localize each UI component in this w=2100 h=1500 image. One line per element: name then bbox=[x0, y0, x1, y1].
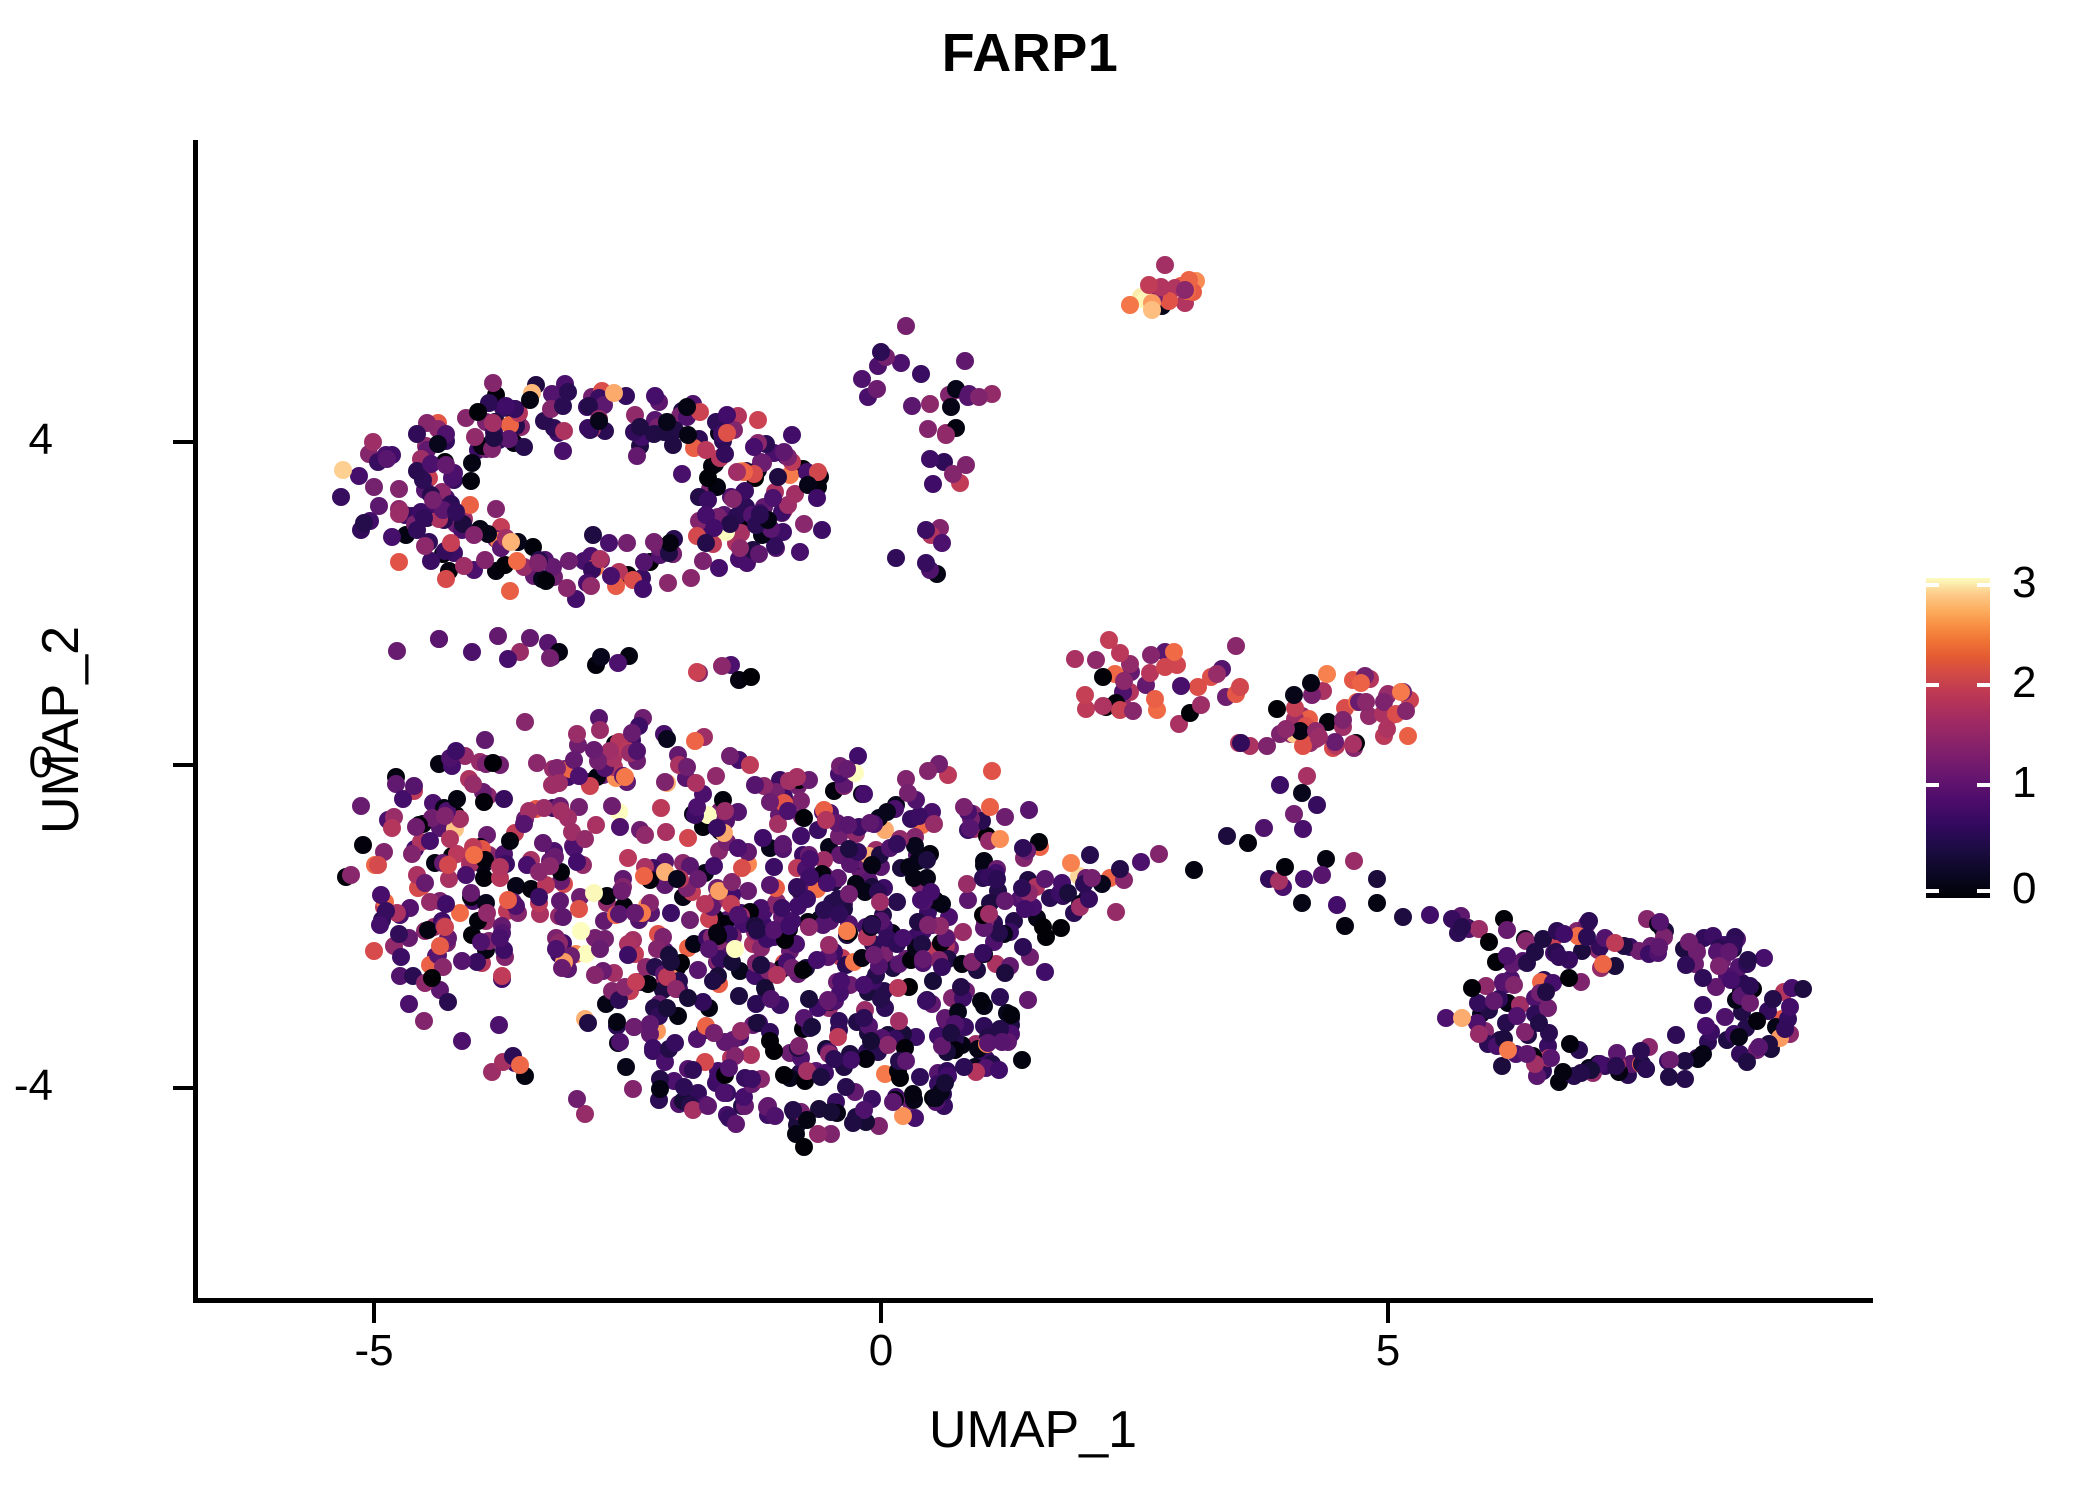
scatter-point bbox=[808, 951, 826, 969]
scatter-point bbox=[838, 922, 856, 940]
scatter-point bbox=[611, 1033, 629, 1051]
scatter-point bbox=[568, 725, 586, 743]
scatter-point bbox=[478, 904, 496, 922]
scatter-point bbox=[818, 874, 836, 892]
scatter-point bbox=[1121, 296, 1139, 314]
scatter-point bbox=[1019, 991, 1037, 1009]
scatter-point bbox=[1271, 776, 1289, 794]
scatter-point bbox=[611, 818, 629, 836]
scatter-point bbox=[872, 343, 890, 361]
scatter-point bbox=[582, 577, 600, 595]
scatter-point bbox=[996, 892, 1014, 910]
scatter-point bbox=[487, 500, 505, 518]
scatter-point bbox=[554, 442, 572, 460]
scatter-point bbox=[651, 1080, 669, 1098]
scatter-point bbox=[819, 991, 837, 1009]
scatter-point bbox=[1087, 651, 1105, 669]
scatter-point bbox=[857, 1050, 875, 1068]
scatter-point bbox=[1697, 1017, 1715, 1035]
scatter-point bbox=[570, 767, 588, 785]
scatter-point bbox=[1357, 693, 1375, 711]
scatter-point bbox=[1741, 994, 1759, 1012]
scatter-point bbox=[1730, 1028, 1748, 1046]
scatter-point bbox=[1561, 1035, 1579, 1053]
scatter-point bbox=[1394, 908, 1412, 926]
scatter-point bbox=[1276, 858, 1294, 876]
scatter-point bbox=[591, 940, 609, 958]
scatter-point bbox=[682, 569, 700, 587]
scatter-point bbox=[415, 1012, 433, 1030]
scatter-point bbox=[972, 992, 990, 1010]
scatter-point bbox=[553, 959, 571, 977]
scatter-point bbox=[501, 582, 519, 600]
scatter-point bbox=[808, 489, 826, 507]
scatter-point bbox=[840, 840, 858, 858]
scatter-point bbox=[535, 799, 553, 817]
scatter-point bbox=[552, 802, 570, 820]
scatter-point bbox=[720, 1059, 738, 1077]
colorbar-label-3: 3 bbox=[2012, 561, 2036, 605]
scatter-point bbox=[762, 990, 780, 1008]
scatter-point bbox=[718, 406, 736, 424]
scatter-point bbox=[484, 414, 502, 432]
scatter-point bbox=[990, 1061, 1008, 1079]
scatter-point bbox=[1677, 956, 1695, 974]
scatter-point bbox=[742, 1046, 760, 1064]
scatter-point bbox=[1239, 834, 1257, 852]
colorbar-tick-3-left bbox=[1926, 583, 1939, 587]
scatter-point bbox=[861, 814, 879, 832]
scatter-point bbox=[1344, 735, 1362, 753]
scatter-point bbox=[555, 422, 573, 440]
scatter-point bbox=[371, 916, 389, 934]
scatter-point bbox=[1764, 990, 1782, 1008]
scatter-point bbox=[408, 425, 426, 443]
scatter-point bbox=[825, 1050, 843, 1068]
scatter-point bbox=[1694, 1045, 1712, 1063]
scatter-point bbox=[352, 797, 370, 815]
x-axis-ticklabel-5: 5 bbox=[1328, 1328, 1448, 1374]
scatter-point bbox=[761, 1032, 779, 1050]
scatter-point bbox=[516, 713, 534, 731]
scatter-point bbox=[732, 1022, 750, 1040]
colorbar-tick-0-right bbox=[1977, 889, 1990, 893]
scatter-point bbox=[1680, 933, 1698, 951]
scatter-point bbox=[447, 742, 465, 760]
scatter-point bbox=[775, 443, 793, 461]
scatter-point bbox=[659, 574, 677, 592]
scatter-point bbox=[436, 918, 454, 936]
scatter-point bbox=[761, 876, 779, 894]
scatter-point bbox=[697, 441, 715, 459]
scatter-point bbox=[1218, 827, 1236, 845]
scatter-point bbox=[390, 925, 408, 943]
scatter-point bbox=[919, 762, 937, 780]
scatter-point bbox=[1572, 1064, 1590, 1082]
scatter-point bbox=[378, 450, 396, 468]
scatter-point bbox=[991, 830, 1009, 848]
scatter-point bbox=[405, 777, 423, 795]
scatter-point bbox=[1081, 846, 1099, 864]
scatter-point bbox=[996, 808, 1014, 826]
scatter-point bbox=[675, 1078, 693, 1096]
x-axis-tick-neg5 bbox=[372, 1303, 376, 1323]
scatter-point bbox=[1738, 1053, 1756, 1071]
scatter-point bbox=[679, 829, 697, 847]
scatter-point bbox=[959, 891, 977, 909]
colorbar-label-1: 1 bbox=[2012, 761, 2036, 805]
scatter-point bbox=[933, 958, 951, 976]
scatter-point bbox=[547, 940, 565, 958]
scatter-point bbox=[658, 999, 676, 1017]
scatter-point bbox=[795, 515, 813, 533]
scatter-point bbox=[1368, 870, 1386, 888]
scatter-point bbox=[416, 537, 434, 555]
scatter-point bbox=[1107, 903, 1125, 921]
scatter-point bbox=[919, 420, 937, 438]
colorbar-tick-1-left bbox=[1926, 783, 1939, 787]
scatter-point bbox=[591, 721, 609, 739]
scatter-point bbox=[365, 478, 383, 496]
scatter-point bbox=[462, 472, 480, 490]
scatter-point bbox=[666, 1034, 684, 1052]
scatter-point bbox=[800, 918, 818, 936]
scatter-point bbox=[1115, 672, 1133, 690]
scatter-point bbox=[912, 365, 930, 383]
y-axis-title: UMAP_2 bbox=[31, 149, 91, 1311]
scatter-point bbox=[1189, 678, 1207, 696]
scatter-point bbox=[741, 756, 759, 774]
scatter-point bbox=[890, 1012, 908, 1030]
scatter-point bbox=[334, 461, 352, 479]
scatter-point bbox=[1076, 686, 1094, 704]
chart-root: FARP1 4 0 -4 -5 0 5 UMAP_1 UMAP_2 3 2 1 … bbox=[0, 0, 2100, 1500]
scatter-point bbox=[1052, 919, 1070, 937]
scatter-point bbox=[634, 580, 652, 598]
scatter-point bbox=[842, 1051, 860, 1069]
scatter-point bbox=[1176, 281, 1194, 299]
scatter-point bbox=[1036, 963, 1054, 981]
scatter-point bbox=[1132, 853, 1150, 871]
scatter-point bbox=[1526, 943, 1544, 961]
scatter-point bbox=[560, 552, 578, 570]
scatter-point bbox=[1172, 677, 1190, 695]
scatter-point bbox=[927, 1089, 945, 1107]
scatter-point bbox=[391, 502, 409, 520]
scatter-point bbox=[658, 413, 676, 431]
colorbar-label-2: 2 bbox=[2012, 661, 2036, 705]
scatter-point bbox=[1555, 925, 1573, 943]
scatter-point bbox=[453, 1032, 471, 1050]
scatter-point bbox=[1508, 1007, 1526, 1025]
scatter-point bbox=[463, 454, 481, 472]
scatter-point bbox=[897, 1052, 915, 1070]
scatter-point bbox=[609, 654, 627, 672]
scatter-point bbox=[1192, 696, 1210, 714]
scatter-point bbox=[476, 551, 494, 569]
scatter-point bbox=[1421, 906, 1439, 924]
scatter-point bbox=[493, 967, 511, 985]
scatter-point bbox=[1485, 992, 1503, 1010]
scatter-point bbox=[745, 438, 763, 456]
scatter-point bbox=[369, 856, 387, 874]
scatter-point bbox=[1124, 702, 1142, 720]
scatter-point bbox=[694, 552, 712, 570]
scatter-point bbox=[924, 475, 942, 493]
scatter-point bbox=[958, 875, 976, 893]
scatter-point bbox=[956, 352, 974, 370]
scatter-point bbox=[768, 966, 786, 984]
scatter-point bbox=[530, 888, 548, 906]
scatter-point bbox=[1748, 1012, 1766, 1030]
scatter-point bbox=[716, 802, 734, 820]
scatter-point bbox=[705, 857, 723, 875]
scatter-point bbox=[554, 908, 572, 926]
scatter-point bbox=[1150, 845, 1168, 863]
x-axis-ticklabel-neg5: -5 bbox=[314, 1328, 434, 1374]
scatter-point bbox=[537, 572, 555, 590]
scatter-point bbox=[795, 1138, 813, 1156]
scatter-point bbox=[499, 650, 517, 668]
scatter-point bbox=[699, 1097, 717, 1115]
scatter-point bbox=[550, 774, 568, 792]
scatter-point bbox=[447, 503, 465, 521]
scatter-point bbox=[1293, 784, 1311, 802]
scatter-point bbox=[716, 445, 734, 463]
scatter-point bbox=[429, 435, 447, 453]
scatter-point bbox=[469, 403, 487, 421]
scatter-point bbox=[495, 790, 513, 808]
scatter-point bbox=[624, 1080, 642, 1098]
scatter-point bbox=[855, 976, 873, 994]
scatter-point bbox=[809, 1125, 827, 1143]
scatter-point bbox=[903, 397, 921, 415]
scatter-point bbox=[704, 972, 722, 990]
scatter-point bbox=[1059, 884, 1077, 902]
scatter-point bbox=[661, 534, 679, 552]
scatter-point bbox=[686, 732, 704, 750]
scatter-point bbox=[430, 630, 448, 648]
scatter-point bbox=[392, 948, 410, 966]
scatter-point bbox=[1014, 839, 1032, 857]
scatter-point bbox=[568, 853, 586, 871]
y-axis-tick-neg4 bbox=[173, 1086, 193, 1090]
scatter-point bbox=[707, 767, 725, 785]
scatter-point bbox=[681, 911, 699, 929]
scatter-point bbox=[733, 859, 751, 877]
scatter-point bbox=[628, 447, 646, 465]
scatter-point bbox=[1255, 819, 1273, 837]
scatter-point bbox=[439, 993, 457, 1011]
scatter-point bbox=[1231, 678, 1249, 696]
scatter-point bbox=[832, 972, 850, 990]
scatter-point bbox=[1143, 301, 1161, 319]
scatter-point bbox=[541, 649, 559, 667]
scatter-point bbox=[780, 917, 798, 935]
scatter-point bbox=[1066, 650, 1084, 668]
x-axis-tick-0 bbox=[879, 1303, 883, 1323]
scatter-point bbox=[617, 1058, 635, 1076]
scatter-point bbox=[554, 397, 572, 415]
scatter-point bbox=[961, 819, 979, 837]
scatter-point bbox=[970, 388, 988, 406]
scatter-point bbox=[1537, 983, 1555, 1001]
scatter-point bbox=[1755, 949, 1773, 967]
scatter-point bbox=[687, 774, 705, 792]
colorbar-tick-3-right bbox=[1977, 583, 1990, 587]
scatter-point bbox=[465, 526, 483, 544]
scatter-point bbox=[1660, 1068, 1678, 1086]
scatter-point bbox=[705, 1024, 723, 1042]
scatter-point bbox=[1100, 631, 1118, 649]
colorbar-tick-2-right bbox=[1977, 683, 1990, 687]
scatter-point bbox=[766, 1107, 784, 1125]
scatter-point bbox=[1308, 796, 1326, 814]
scatter-point bbox=[1295, 870, 1313, 888]
scatter-point bbox=[576, 830, 594, 848]
scatter-point bbox=[585, 741, 603, 759]
scatter-point bbox=[1606, 934, 1624, 952]
scatter-point bbox=[679, 989, 697, 1007]
scatter-point bbox=[448, 790, 466, 808]
scatter-point bbox=[457, 866, 475, 884]
scatter-point bbox=[1345, 852, 1363, 870]
scatter-point bbox=[914, 950, 932, 968]
scatter-point bbox=[501, 832, 519, 850]
scatter-point bbox=[684, 1061, 702, 1079]
scatter-points-layer bbox=[193, 140, 1873, 1302]
scatter-point bbox=[585, 884, 603, 902]
scatter-point bbox=[726, 940, 744, 958]
scatter-point bbox=[1013, 879, 1031, 897]
scatter-point bbox=[658, 730, 676, 748]
scatter-point bbox=[499, 891, 517, 909]
scatter-point bbox=[400, 995, 418, 1013]
scatter-point bbox=[1185, 861, 1203, 879]
scatter-point bbox=[1651, 913, 1669, 931]
y-axis-tick-0 bbox=[173, 763, 193, 767]
scatter-point bbox=[888, 835, 906, 853]
scatter-point bbox=[1453, 918, 1471, 936]
colorbar-tick-2-left bbox=[1926, 683, 1939, 687]
scatter-point bbox=[464, 775, 482, 793]
scatter-point bbox=[491, 929, 509, 947]
scatter-point bbox=[437, 570, 455, 588]
scatter-point bbox=[342, 866, 360, 884]
scatter-point bbox=[1328, 896, 1346, 914]
scatter-point bbox=[783, 426, 801, 444]
scatter-point bbox=[1498, 947, 1516, 965]
scatter-point bbox=[645, 533, 663, 551]
scatter-point bbox=[800, 990, 818, 1008]
scatter-point bbox=[636, 826, 654, 844]
scatter-point bbox=[1294, 820, 1312, 838]
scatter-point bbox=[729, 839, 747, 857]
scatter-point bbox=[1013, 1051, 1031, 1069]
scatter-point bbox=[1268, 700, 1286, 718]
scatter-point bbox=[1741, 977, 1759, 995]
scatter-point bbox=[942, 398, 960, 416]
scatter-point bbox=[1667, 1026, 1685, 1044]
scatter-point bbox=[863, 856, 881, 874]
scatter-point bbox=[1310, 728, 1328, 746]
scatter-point bbox=[572, 922, 590, 940]
scatter-point bbox=[605, 384, 623, 402]
scatter-point bbox=[421, 832, 439, 850]
scatter-point bbox=[863, 916, 881, 934]
scatter-point bbox=[813, 521, 831, 539]
scatter-point bbox=[1334, 711, 1352, 729]
scatter-point bbox=[1146, 690, 1164, 708]
scatter-point bbox=[887, 549, 905, 567]
scatter-point bbox=[812, 1068, 830, 1086]
scatter-point bbox=[730, 987, 748, 1005]
scatter-point bbox=[696, 895, 714, 913]
scatter-point bbox=[610, 905, 628, 923]
scatter-point bbox=[602, 567, 620, 585]
scatter-point bbox=[944, 465, 962, 483]
scatter-point bbox=[888, 893, 906, 911]
scatter-point bbox=[1530, 1014, 1548, 1032]
scatter-point bbox=[616, 768, 634, 786]
scatter-point bbox=[1016, 900, 1034, 918]
scatter-point bbox=[1397, 702, 1415, 720]
scatter-point bbox=[1156, 256, 1174, 274]
scatter-point bbox=[788, 878, 806, 896]
scatter-point bbox=[955, 798, 973, 816]
scatter-point bbox=[416, 874, 434, 892]
scatter-point bbox=[899, 784, 917, 802]
scatter-point bbox=[1378, 720, 1396, 738]
scatter-point bbox=[1676, 1070, 1694, 1088]
scatter-point bbox=[662, 904, 680, 922]
scatter-point bbox=[1750, 1038, 1768, 1056]
scatter-point bbox=[673, 465, 691, 483]
scatter-point bbox=[511, 1056, 529, 1074]
scatter-point bbox=[388, 642, 406, 660]
colorbar-tick-0-left bbox=[1926, 889, 1939, 893]
scatter-point bbox=[652, 799, 670, 817]
scatter-point bbox=[491, 858, 509, 876]
scatter-point bbox=[942, 1024, 960, 1042]
scatter-point bbox=[889, 979, 907, 997]
scatter-point bbox=[779, 802, 797, 820]
scatter-point bbox=[592, 648, 610, 666]
scatter-point bbox=[699, 469, 717, 487]
scatter-point bbox=[855, 785, 873, 803]
scatter-point bbox=[750, 545, 768, 563]
scatter-point bbox=[354, 836, 372, 854]
scatter-point bbox=[897, 317, 915, 335]
scatter-point bbox=[1318, 665, 1336, 683]
x-axis-tick-5 bbox=[1386, 1303, 1390, 1323]
scatter-point bbox=[463, 643, 481, 661]
scatter-point bbox=[791, 543, 809, 561]
scatter-point bbox=[558, 579, 576, 597]
scatter-point bbox=[475, 793, 493, 811]
scatter-point bbox=[981, 798, 999, 816]
scatter-point bbox=[1399, 727, 1417, 745]
scatter-point bbox=[715, 1084, 733, 1102]
scatter-point bbox=[727, 1115, 745, 1133]
scatter-point bbox=[1208, 665, 1226, 683]
scatter-point bbox=[1036, 870, 1054, 888]
scatter-point bbox=[868, 380, 886, 398]
scatter-point bbox=[541, 857, 559, 875]
scatter-point bbox=[497, 397, 515, 415]
scatter-point bbox=[1094, 668, 1112, 686]
scatter-point bbox=[528, 754, 546, 772]
